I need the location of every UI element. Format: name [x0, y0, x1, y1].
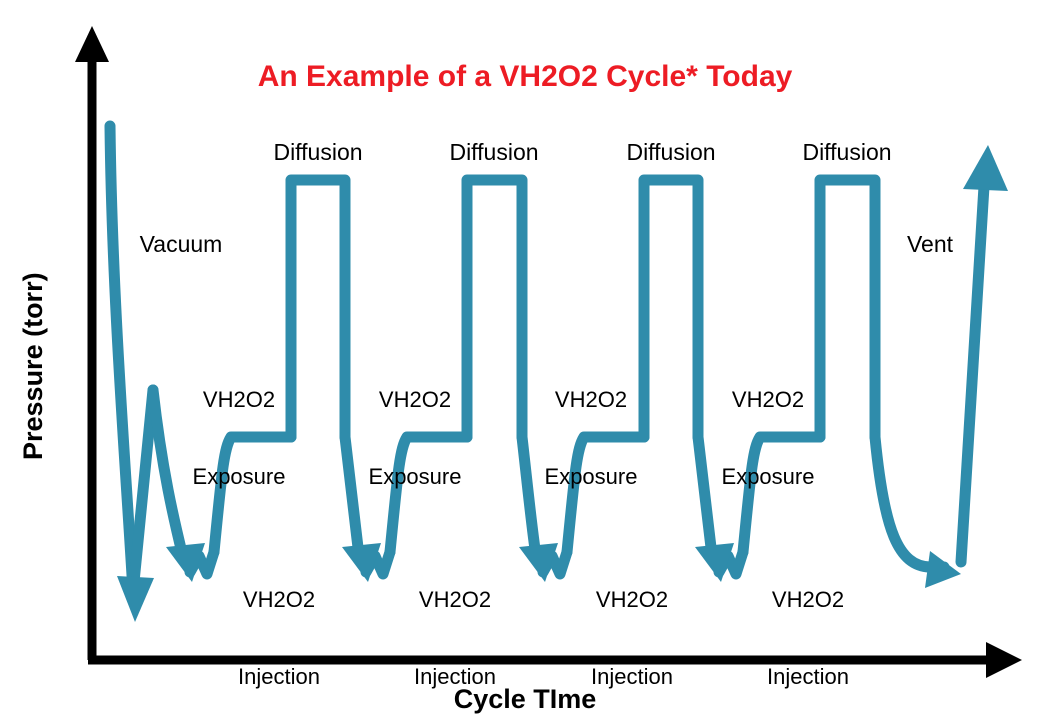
- injection-label-1-line1: VH2O2: [219, 587, 339, 613]
- injection-label-3-line2: Injection: [572, 664, 692, 690]
- vacuum-arrowhead-icon: [117, 576, 154, 622]
- vent-arrowhead-icon: [963, 145, 1008, 191]
- pressure-cycle-plot: [0, 0, 1050, 728]
- diffusion-label-1: Diffusion: [248, 139, 388, 166]
- exposure-label-3-line1: VH2O2: [531, 387, 651, 413]
- vent-rise-line: [961, 170, 985, 562]
- slide-canvas: An Example of a VH2O2 Cycle* Today Press…: [0, 0, 1050, 728]
- y-axis-arrowhead: [75, 26, 109, 62]
- injection-label-4-line1: VH2O2: [748, 587, 868, 613]
- final-evacuation-curve: [875, 437, 944, 567]
- injection-label-4: VH2O2 Injection # 4: [748, 536, 868, 728]
- y-axis-title: Pressure (torr): [18, 272, 49, 460]
- injection-label-2: VH2O2 Injection # 2: [395, 536, 515, 728]
- injection-label-1: VH2O2 Injection # 1: [219, 536, 339, 728]
- x-axis-title: Cycle TIme: [0, 684, 1050, 715]
- cycle1-recovery-spike: [133, 390, 153, 592]
- injection-label-3-line1: VH2O2: [572, 587, 692, 613]
- exposure-label-4-line1: VH2O2: [708, 387, 828, 413]
- exposure-label-1-line1: VH2O2: [179, 387, 299, 413]
- injection-label-4-line2: Injection: [748, 664, 868, 690]
- injection-label-3: VH2O2 Injection # 3: [572, 536, 692, 728]
- page-title: An Example of a VH2O2 Cycle* Today: [0, 60, 1050, 95]
- exposure-label-1-line2: Exposure: [179, 464, 299, 490]
- exposure-label-1: VH2O2 Exposure: [179, 336, 299, 540]
- cycle4-diffusion-step: [820, 180, 875, 437]
- exposure-label-4: VH2O2 Exposure: [708, 336, 828, 540]
- injection-label-2-line1: VH2O2: [395, 587, 515, 613]
- diffusion-label-3: Diffusion: [601, 139, 741, 166]
- exposure-label-2-line1: VH2O2: [355, 387, 475, 413]
- cycle2-diffusion-step: [467, 180, 522, 437]
- diffusion-label-4: Diffusion: [777, 139, 917, 166]
- vent-label: Vent: [873, 231, 987, 258]
- exposure-label-3-line2: Exposure: [531, 464, 651, 490]
- injection-label-2-line2: Injection: [395, 664, 515, 690]
- diffusion-label-2: Diffusion: [424, 139, 564, 166]
- exposure-label-3: VH2O2 Exposure: [531, 336, 651, 540]
- exposure-label-2-line2: Exposure: [355, 464, 475, 490]
- final-evacuation-arrowhead-icon: [925, 551, 961, 588]
- injection-label-1-line2: Injection: [219, 664, 339, 690]
- cycle1-diffusion-step: [291, 180, 345, 437]
- cycle3-diffusion-step: [644, 180, 698, 437]
- vacuum-label: Vacuum: [121, 231, 241, 258]
- x-axis-arrowhead: [986, 642, 1022, 678]
- exposure-label-2: VH2O2 Exposure: [355, 336, 475, 540]
- exposure-label-4-line2: Exposure: [708, 464, 828, 490]
- vacuum-pulldown-curve: [110, 126, 133, 592]
